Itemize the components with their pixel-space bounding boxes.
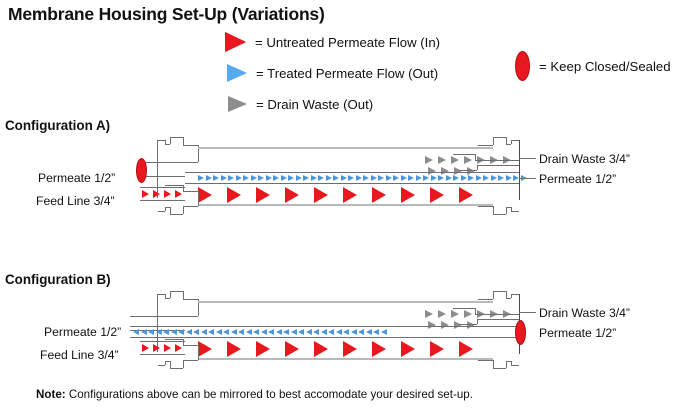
drain-waste-label-a: Drain Waste 3/4” — [539, 152, 630, 166]
feed-line-label-a-left: Feed Line 3/4” — [36, 194, 115, 208]
vessel-b-cap-tr4 — [506, 291, 507, 298]
vessel-b-cap-bl7 — [158, 365, 165, 366]
vessel-b-cap-bl2 — [183, 360, 184, 368]
legend-label-untreated: = Untreated Permeate Flow (In) — [255, 35, 440, 50]
drain-b-outlet — [519, 312, 536, 313]
drain-b-lower-conn3 — [477, 319, 519, 320]
permeate-a-arrows — [198, 175, 528, 181]
vessel-b-cap-br4 — [506, 361, 507, 368]
vessel-a-cap-tr5 — [506, 144, 511, 145]
vessel-a-bl-edge — [198, 191, 199, 206]
permeate-a-tube-top — [185, 172, 519, 173]
legend-label-drain: = Drain Waste (Out) — [256, 97, 373, 112]
vessel-a-cap-tr2 — [493, 137, 494, 145]
vessel-a-cap-tr3 — [493, 137, 506, 138]
vessel-a-cap-bl6 — [165, 207, 166, 211]
vessel-b-cap-bl1 — [183, 360, 198, 361]
seal-icon-config-b — [515, 320, 526, 345]
vessel-b-bottom-barrel — [198, 358, 493, 360]
drain-b-conn1 — [453, 308, 475, 309]
permeate-label-b-left: Permeate 1/2” — [44, 325, 121, 339]
drain-a-conn1 — [453, 154, 475, 155]
drain-waste-b-lower-arrows — [428, 321, 480, 329]
drain-waste-label-b: Drain Waste 3/4” — [539, 306, 630, 320]
vessel-a-cap-bl2 — [183, 206, 184, 214]
vessel-b-cap-tl1 — [158, 294, 165, 295]
vessel-a-cap-tl1 — [158, 140, 165, 141]
vessel-a-cap-br1 — [478, 206, 493, 207]
permeate-label-b-right: Permeate 1/2” — [539, 326, 616, 340]
vessel-b-bl-edge — [198, 345, 199, 360]
permeate-a-port-top — [140, 162, 198, 163]
legend-item-seal: = Keep Closed/Sealed — [515, 57, 671, 75]
drain-a-outlet — [519, 158, 536, 159]
vessel-b-cap-tl5 — [170, 291, 183, 292]
configuration-b-diagram: Permeate 1/2” Feed Line 3/4” Drain Waste… — [0, 284, 679, 379]
permeate-b-tube-top — [130, 326, 519, 327]
drain-a-lower-conn1 — [459, 170, 477, 171]
vessel-a-cap-tl4 — [170, 137, 171, 144]
permeate-label-a-left: Permeate 1/2” — [38, 171, 115, 185]
vessel-b-cap-tl4 — [170, 291, 171, 298]
page-title: Membrane Housing Set-Up (Variations) — [8, 4, 325, 25]
vessel-a-cap-bl3 — [170, 214, 183, 215]
vessel-a-cap-tr7 — [511, 140, 519, 141]
feed-a-port-top — [140, 187, 185, 188]
vessel-b-cap-br2 — [493, 360, 494, 368]
vessel-b-cap-tl6 — [183, 291, 184, 299]
vessel-b-cap-tl7 — [183, 299, 198, 300]
vessel-a-cap-tl5 — [170, 137, 183, 138]
vessel-a-cap-br2 — [493, 206, 494, 214]
vessel-b-cap-br3 — [493, 368, 506, 369]
vessel-b-cap-bl3 — [170, 368, 183, 369]
permeate-label-a-right: Permeate 1/2” — [539, 172, 616, 186]
legend-item-drain: = Drain Waste (Out) — [228, 95, 373, 113]
footer-note-text: Configurations above can be mirrored to … — [69, 388, 473, 401]
vessel-a-cap-bl1 — [183, 206, 198, 207]
vessel-a-cap-br3 — [493, 214, 506, 215]
drain-waste-a-lower-arrows — [428, 167, 480, 175]
feed-a-port-bottom — [140, 200, 185, 201]
vessel-a-cap-br4 — [506, 207, 507, 214]
vessel-a-cap-tl3 — [165, 144, 170, 145]
vessel-a-cap-tl7 — [183, 145, 198, 146]
footer-note-prefix: Note: — [36, 388, 66, 401]
vessel-a-cap-bl7 — [158, 211, 165, 212]
vessel-a-cap-tr1 — [478, 145, 493, 146]
gray-triangle-icon — [228, 96, 247, 112]
permeate-a-outlet — [519, 178, 536, 179]
permeate-b-tube-bottom — [130, 337, 519, 338]
feed-a-small-arrows — [142, 190, 186, 198]
vessel-b-cap-tr3 — [493, 291, 506, 292]
permeate-a-tube-bottom — [185, 183, 519, 184]
feed-b-step3 — [183, 345, 198, 346]
vessel-a-cap-br7 — [511, 211, 519, 212]
vessel-a-cap-tl6 — [183, 137, 184, 145]
vessel-b-cap-tr7 — [511, 294, 519, 295]
feed-a-step3 — [183, 191, 198, 192]
red-triangle-icon — [225, 32, 246, 52]
feed-a-step1 — [165, 185, 183, 186]
vessel-a-top-barrel — [198, 147, 493, 149]
vessel-b-cap-tl3 — [165, 298, 170, 299]
permeate-b-port-top — [130, 316, 198, 317]
vessel-b-cap-br1 — [478, 360, 493, 361]
legend-label-treated: = Treated Permeate Flow (Out) — [256, 66, 438, 81]
feed-b-port-top — [140, 341, 185, 342]
feed-b-small-arrows — [142, 344, 186, 352]
red-seal-icon — [515, 51, 530, 81]
vessel-b-cap-br7 — [511, 365, 519, 366]
vessel-b-cap-tr5 — [506, 298, 511, 299]
vessel-a-right-edge — [519, 140, 520, 200]
drain-a-conn3 — [475, 160, 519, 161]
vessel-a-cap-tr4 — [506, 137, 507, 144]
vessel-b-cap-bl6 — [165, 361, 166, 365]
feed-line-label-b-left: Feed Line 3/4” — [40, 348, 119, 362]
configuration-a-diagram: Permeate 1/2” Feed Line 3/4” Drain Waste… — [0, 130, 679, 225]
vessel-a-cap-bl4 — [170, 207, 171, 214]
vessel-b-cap-tr1 — [478, 299, 493, 300]
feed-b-port-bottom — [140, 354, 185, 355]
vessel-a-bottom-barrel — [198, 204, 493, 206]
drain-b-lower-conn1 — [459, 324, 477, 325]
legend-item-untreated: = Untreated Permeate Flow (In) — [225, 33, 440, 51]
permeate-a-port-bottom — [140, 176, 185, 177]
feed-a-large-arrows — [198, 187, 488, 203]
vessel-b-top-barrel — [198, 301, 493, 303]
legend: = Untreated Permeate Flow (In) = Treated… — [225, 33, 679, 115]
footer-note: Note: Configurations above can be mirror… — [36, 388, 473, 401]
legend-label-seal: = Keep Closed/Sealed — [539, 59, 671, 74]
seal-icon-config-a — [136, 158, 147, 183]
vessel-b-cap-tr2 — [493, 291, 494, 299]
feed-b-large-arrows — [198, 341, 488, 357]
permeate-b-arrows — [133, 329, 388, 335]
vessel-b-cap-bl4 — [170, 361, 171, 368]
drain-b-conn3 — [475, 314, 519, 315]
legend-item-treated: = Treated Permeate Flow (Out) — [227, 64, 438, 82]
feed-b-step1 — [165, 339, 183, 340]
blue-triangle-icon — [227, 64, 247, 82]
drain-a-lower-conn3 — [477, 165, 519, 166]
